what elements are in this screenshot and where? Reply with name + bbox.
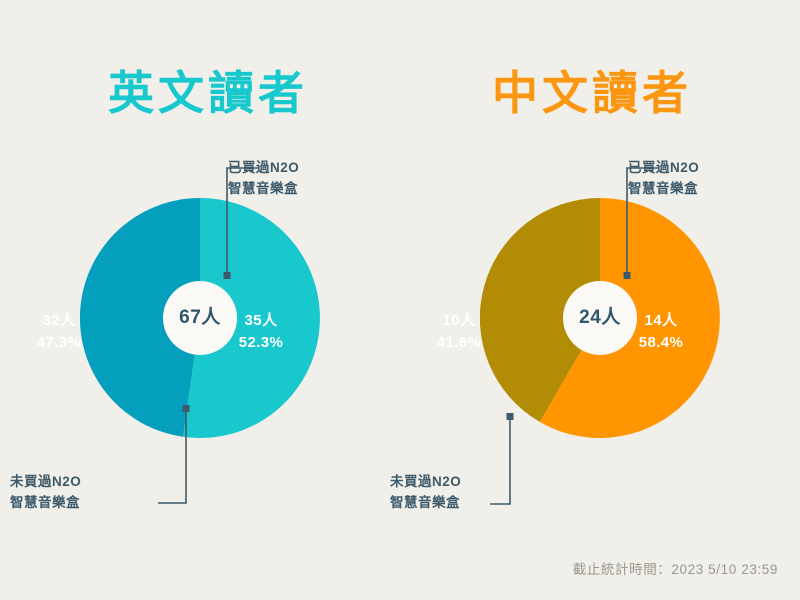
slice-label-not-purchased-english: 32人 47.3% (14, 310, 104, 354)
slice-count-purchased-chinese: 14人 (645, 312, 678, 329)
callout-bottom-line2-chinese: 智慧音樂盒 (390, 493, 461, 514)
callout-top-line2-english: 智慧音樂盒 (228, 179, 299, 200)
callout-top-line2-chinese: 智慧音樂盒 (628, 179, 699, 200)
callout-top-line1-english: 已買過N2O (228, 158, 299, 179)
slice-count-purchased-english: 35人 (245, 312, 278, 329)
slice-percent-purchased-chinese: 58.4% (616, 332, 706, 354)
callout-top-english: 已買過N2O 智慧音樂盒 (228, 158, 299, 200)
chart-panel-english: 67人 32人 47.3% 35人 52.3% 已買過N2O 智慧音樂盒 未買過… (0, 150, 400, 550)
callout-bottom-chinese: 未買過N2O 智慧音樂盒 (390, 472, 461, 514)
slice-label-purchased-english: 35人 52.3% (216, 310, 306, 354)
slice-percent-not-purchased-english: 47.3% (14, 332, 104, 354)
callout-top-line1-chinese: 已買過N2O (628, 158, 699, 179)
callout-top-chinese: 已買過N2O 智慧音樂盒 (628, 158, 699, 200)
chart-title-chinese: 中文讀者 (392, 68, 792, 119)
callout-bottom-line2-english: 智慧音樂盒 (10, 493, 81, 514)
slice-label-purchased-chinese: 14人 58.4% (616, 310, 706, 354)
chart-title-english: 英文讀者 (8, 68, 408, 119)
slice-percent-not-purchased-chinese: 41.6% (414, 332, 504, 354)
chart-panel-chinese: 24人 10人 41.6% 14人 58.4% 已買過N2O 智慧音樂盒 未買過… (400, 150, 800, 550)
slice-percent-purchased-english: 52.3% (216, 332, 306, 354)
callout-bottom-line1-chinese: 未買過N2O (390, 472, 461, 493)
callout-bottom-line1-english: 未買過N2O (10, 472, 81, 493)
slice-label-not-purchased-chinese: 10人 41.6% (414, 310, 504, 354)
callout-bottom-english: 未買過N2O 智慧音樂盒 (10, 472, 81, 514)
infographic-canvas: 英文讀者 67人 32人 47.3% 35人 52.3% 已買過N (0, 0, 800, 600)
slice-count-not-purchased-chinese: 10人 (443, 312, 476, 329)
slice-count-not-purchased-english: 32人 (43, 312, 76, 329)
footnote-timestamp: 截止統計時間：2023 5/10 23:59 (573, 558, 778, 578)
